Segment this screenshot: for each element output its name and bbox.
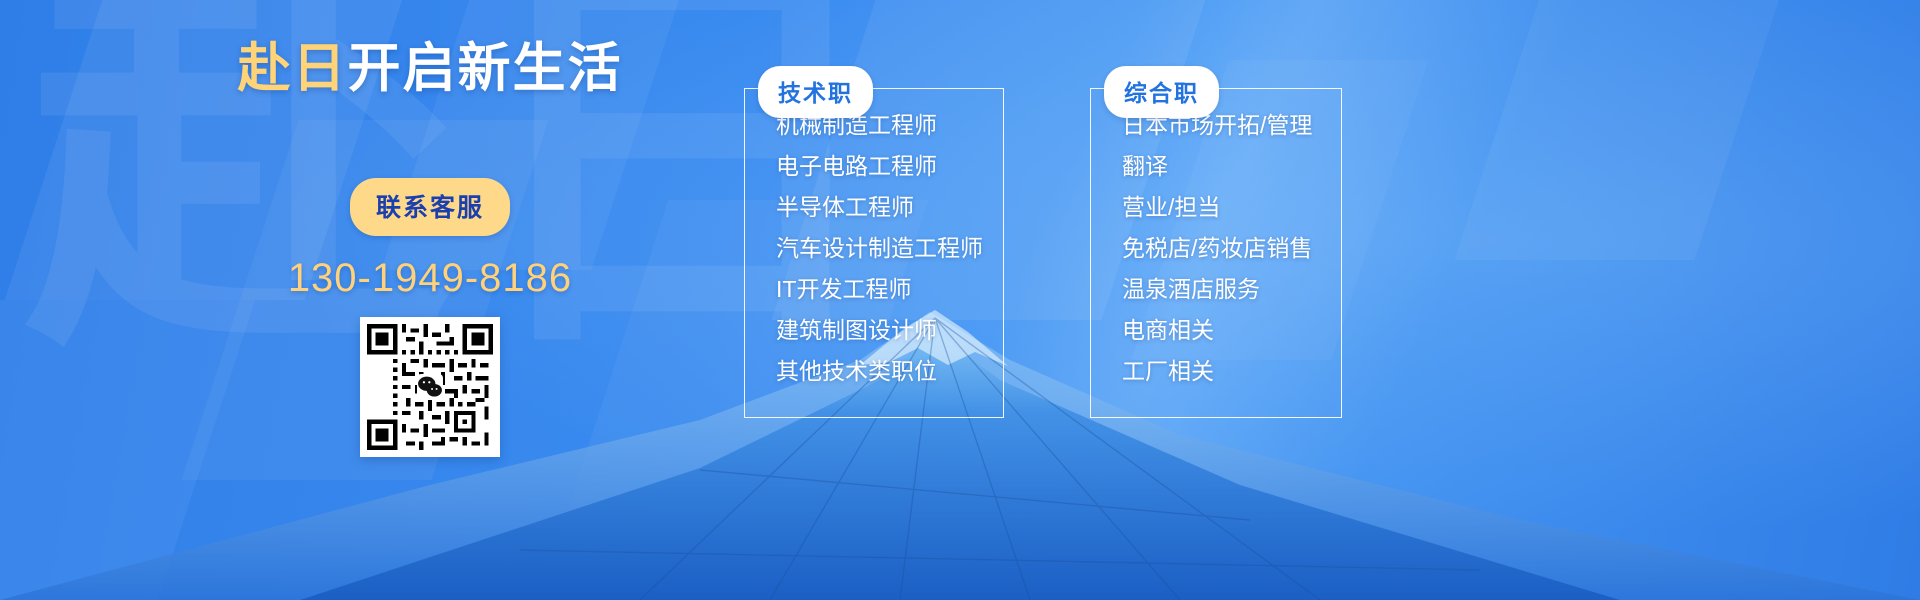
job-category-tech: 技术职 机械制造工程师 电子电路工程师 半导体工程师 汽车设计制造工程师 IT开… <box>744 88 1004 418</box>
list-item[interactable]: 其他技术类职位 <box>776 360 1004 383</box>
wechat-logo-icon <box>417 374 443 400</box>
job-list-general: 日本市场开拓/管理 翻译 营业/担当 免税店/药妆店销售 温泉酒店服务 电商相关… <box>1090 88 1342 383</box>
list-item[interactable]: 半导体工程师 <box>776 196 1004 219</box>
list-item[interactable]: 温泉酒店服务 <box>1122 278 1342 301</box>
list-item[interactable]: IT开发工程师 <box>776 278 1004 301</box>
phone-number[interactable]: 130-1949-8186 <box>288 256 572 301</box>
list-item[interactable]: 工厂相关 <box>1122 360 1342 383</box>
list-item[interactable]: 汽车设计制造工程师 <box>776 237 1004 260</box>
list-item[interactable]: 建筑制图设计师 <box>776 319 1004 342</box>
promo-banner: 赴日 <box>0 0 1920 600</box>
title-plain: 开启新生活 <box>348 39 623 98</box>
left-content-block: 赴日开启新生活 联系客服 130-1949-8186 <box>150 0 710 600</box>
category-badge-tech[interactable]: 技术职 <box>758 66 873 118</box>
job-list-tech: 机械制造工程师 电子电路工程师 半导体工程师 汽车设计制造工程师 IT开发工程师… <box>744 88 1004 383</box>
list-item[interactable]: 电商相关 <box>1122 319 1342 342</box>
list-item[interactable]: 翻译 <box>1122 155 1342 178</box>
list-item[interactable]: 免税店/药妆店销售 <box>1122 237 1342 260</box>
list-item[interactable]: 营业/担当 <box>1122 196 1342 219</box>
list-item[interactable]: 电子电路工程师 <box>776 155 1004 178</box>
contact-support-button[interactable]: 联系客服 <box>350 178 510 236</box>
wechat-qr-code[interactable] <box>360 317 500 457</box>
title-accent: 赴日 <box>238 39 348 98</box>
category-badge-general[interactable]: 综合职 <box>1104 66 1219 118</box>
job-category-general: 综合职 日本市场开拓/管理 翻译 营业/担当 免税店/药妆店销售 温泉酒店服务 … <box>1090 88 1342 418</box>
page-title: 赴日开启新生活 <box>238 42 623 95</box>
